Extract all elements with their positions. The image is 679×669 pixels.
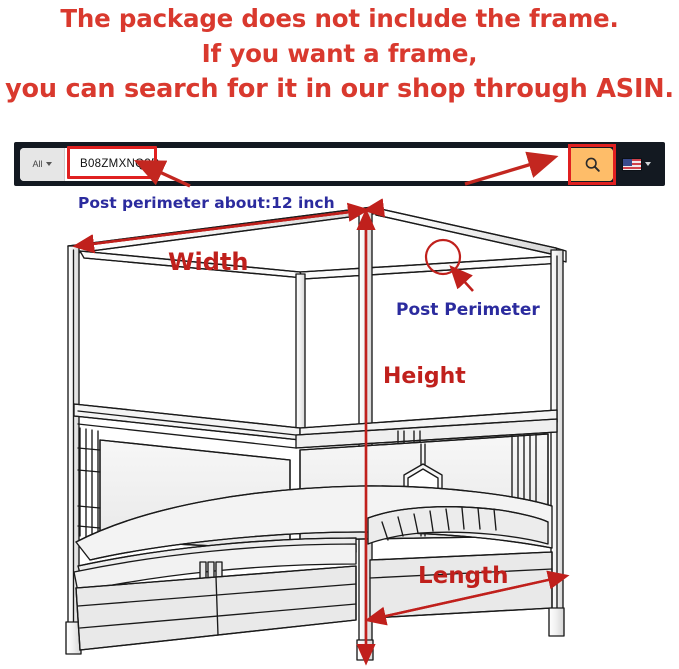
chevron-down-icon bbox=[46, 162, 52, 166]
headline-line-1: The package does not include the frame. bbox=[0, 4, 679, 34]
search-input[interactable]: B08ZMXNQ3D bbox=[68, 158, 160, 170]
search-box: All B08ZMXNQ3D bbox=[20, 148, 613, 181]
bed-dimension-diagram bbox=[0, 188, 679, 669]
category-dropdown[interactable]: All bbox=[20, 148, 65, 181]
search-submit-button[interactable] bbox=[571, 148, 613, 181]
category-dropdown-label: All bbox=[32, 159, 42, 169]
us-flag-icon bbox=[622, 158, 642, 171]
locale-selector[interactable] bbox=[613, 158, 659, 171]
magnifier-icon bbox=[584, 156, 601, 173]
search-input-wrapper[interactable]: B08ZMXNQ3D bbox=[65, 148, 571, 181]
headline-line-2: If you want a frame, bbox=[0, 39, 679, 69]
promo-headline: The package does not include the frame. … bbox=[0, 0, 679, 105]
width-dimension-arrow-right bbox=[76, 210, 366, 246]
bed-line-drawing bbox=[0, 188, 679, 669]
post-perimeter-arrow bbox=[452, 268, 473, 291]
chevron-down-icon bbox=[645, 162, 651, 166]
search-bar: All B08ZMXNQ3D bbox=[14, 142, 665, 186]
headline-line-3: you can search for it in our shop throug… bbox=[0, 74, 679, 105]
